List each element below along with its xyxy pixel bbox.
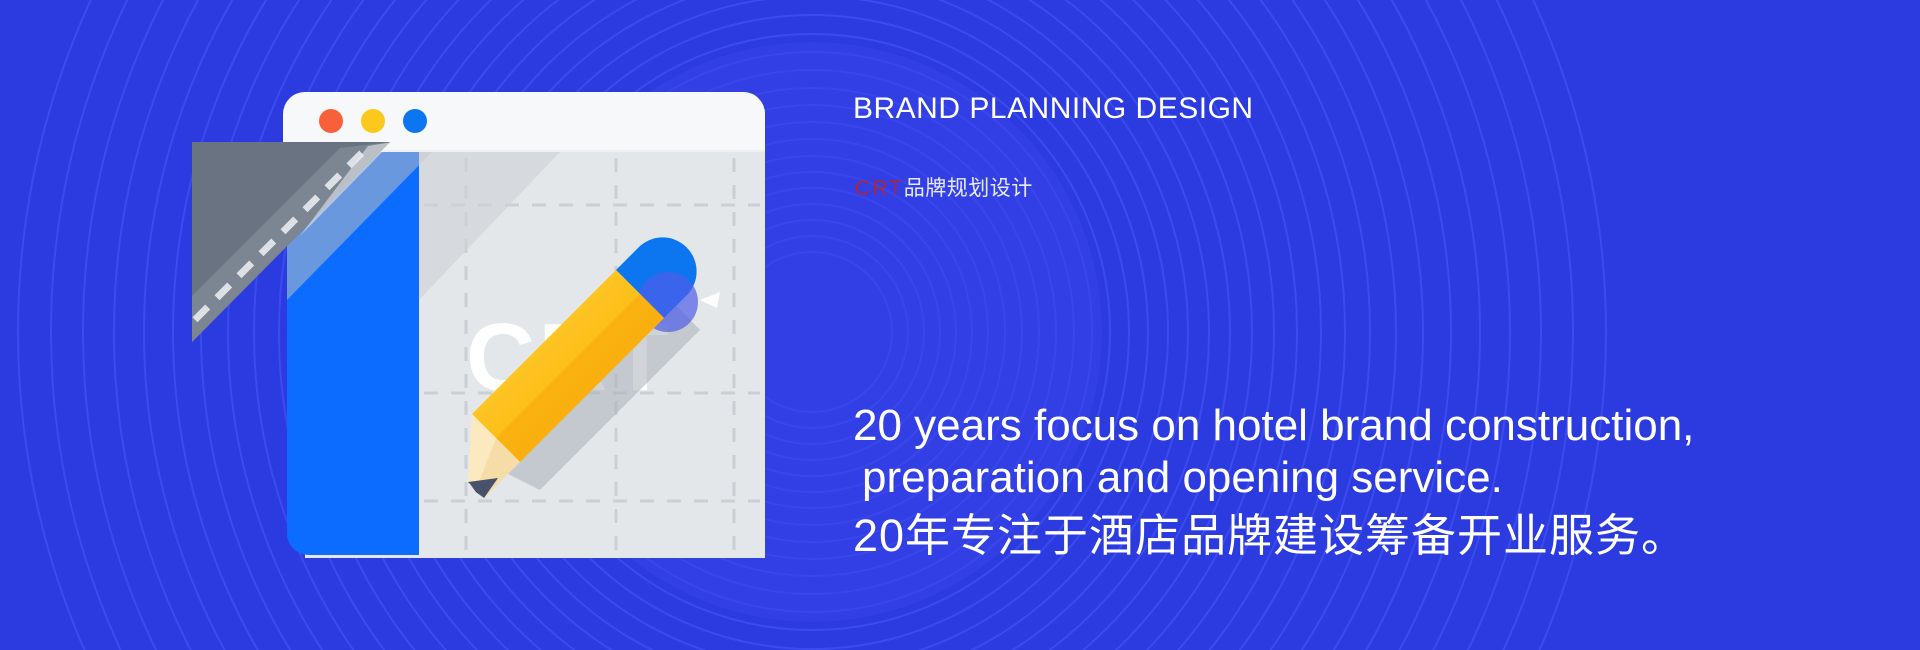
eyebrow-subheading: CRT品牌规划设计: [855, 172, 1033, 202]
dot-yellow-icon: [361, 109, 385, 133]
headline-line-1: 20 years focus on hotel brand constructi…: [853, 401, 1694, 450]
brand-mark-crt: CRT: [855, 177, 904, 200]
dot-red-icon: [319, 109, 343, 133]
headline-line-2: preparation and opening service.: [853, 452, 1863, 504]
hero-illustration: CRT: [0, 0, 860, 650]
copy-column: BRAND PLANNING DESIGN CRT品牌规划设计 20 years…: [853, 0, 1913, 650]
hero-banner: CRT: [0, 0, 1920, 650]
window-dots-group: [319, 109, 427, 133]
headline-english: 20 years focus on hotel brand constructi…: [853, 400, 1863, 504]
eyebrow-heading: BRAND PLANNING DESIGN: [853, 91, 1273, 126]
headline-chinese: 20年专注于酒店品牌建设筹备开业服务。: [853, 508, 1687, 564]
eyebrow-subheading-text: 品牌规划设计: [904, 177, 1033, 200]
dot-blue-icon: [403, 109, 427, 133]
